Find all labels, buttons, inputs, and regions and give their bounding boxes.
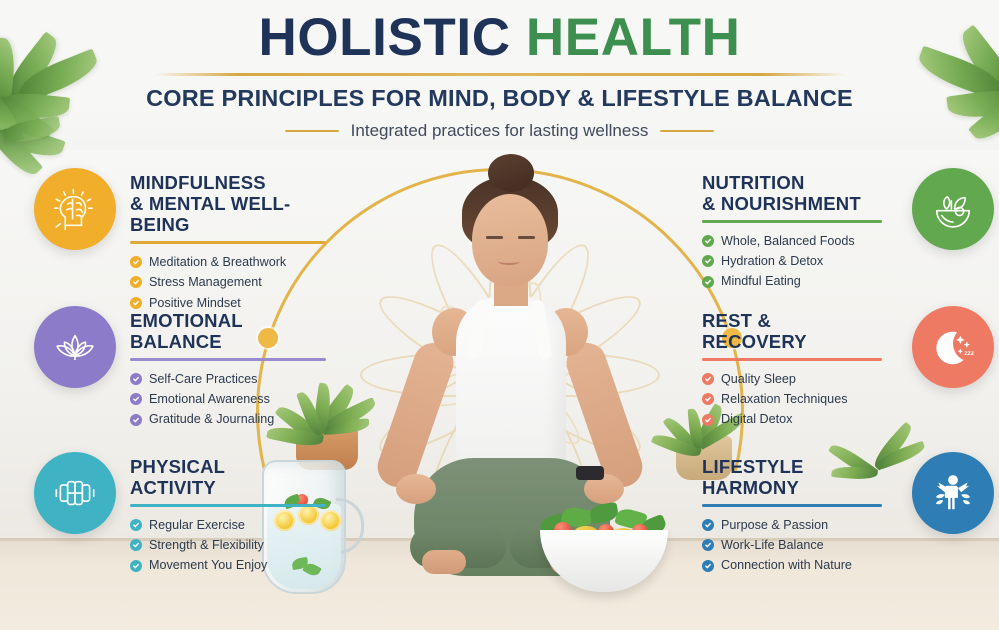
check-icon xyxy=(130,539,142,551)
check-icon xyxy=(130,414,142,426)
list-item: Relaxation Techniques xyxy=(702,389,898,409)
title-divider xyxy=(154,73,846,76)
mindfulness-accent xyxy=(130,241,326,244)
lifestyle-harmony-bullets: Purpose & Passion Work-Life Balance Conn… xyxy=(702,515,898,576)
physical-activity-title: PHYSICAL ACTIVITY xyxy=(130,456,348,498)
list-item: Gratitude & Journaling xyxy=(130,409,348,429)
physical-activity-accent xyxy=(130,504,326,507)
tagline-rule-left xyxy=(285,130,339,133)
list-item: Purpose & Passion xyxy=(702,515,898,535)
check-icon xyxy=(702,276,714,288)
list-item: Meditation & Breathwork xyxy=(130,252,348,272)
check-icon xyxy=(702,255,714,267)
emotional-balance-text: EMOTIONAL BALANCE Self-Care Practices Em… xyxy=(130,306,348,430)
principle-card-lifestyle-harmony[interactable]: LIFESTYLE HARMONY Purpose & Passion Work… xyxy=(702,452,994,576)
check-icon xyxy=(130,256,142,268)
list-item: Whole, Balanced Foods xyxy=(702,231,898,251)
emotional-balance-bullets: Self-Care Practices Emotional Awareness … xyxy=(130,369,348,430)
lifestyle-harmony-accent xyxy=(702,504,882,507)
principle-card-rest-recovery[interactable]: zzz REST & RECOVERY Quality Sleep Relaxa… xyxy=(702,306,994,430)
check-icon xyxy=(702,519,714,531)
rest-recovery-accent xyxy=(702,358,882,361)
brain-head-icon xyxy=(34,168,116,250)
tagline-rule-right xyxy=(660,130,714,133)
check-icon xyxy=(702,414,714,426)
emotional-balance-title: EMOTIONAL BALANCE xyxy=(130,310,348,352)
list-item: Work-Life Balance xyxy=(702,535,898,555)
emotional-balance-accent xyxy=(130,358,326,361)
moon-stars-icon: zzz xyxy=(912,306,994,388)
principle-card-physical-activity[interactable]: PHYSICAL ACTIVITY Regular Exercise Stren… xyxy=(34,452,348,576)
check-icon xyxy=(702,393,714,405)
leaf-decoration-top-right xyxy=(845,0,999,152)
list-item: Hydration & Detox xyxy=(702,251,898,271)
check-icon xyxy=(130,519,142,531)
check-icon xyxy=(130,373,142,385)
infographic-poster: HOLISTIC HEALTH CORE PRINCIPLES FOR MIND… xyxy=(0,0,999,630)
principle-card-emotional-balance[interactable]: EMOTIONAL BALANCE Self-Care Practices Em… xyxy=(34,306,348,430)
svg-text:zzz: zzz xyxy=(964,350,975,357)
principle-card-nutrition[interactable]: NUTRITION & NOURISHMENT Whole, Balanced … xyxy=(702,168,994,292)
check-icon xyxy=(702,235,714,247)
mindfulness-text: MINDFULNESS & MENTAL WELL-BEING Meditati… xyxy=(130,168,348,313)
physical-activity-bullets: Regular Exercise Strength & Flexibility … xyxy=(130,515,348,576)
mindfulness-title: MINDFULNESS & MENTAL WELL-BEING xyxy=(130,172,348,235)
principle-card-mindfulness[interactable]: MINDFULNESS & MENTAL WELL-BEING Meditati… xyxy=(34,168,348,313)
lotus-icon xyxy=(34,306,116,388)
list-item: Strength & Flexibility xyxy=(130,535,348,555)
rest-recovery-text: REST & RECOVERY Quality Sleep Relaxation… xyxy=(702,306,898,430)
lifestyle-harmony-title: LIFESTYLE HARMONY xyxy=(702,456,898,498)
nutrition-title: NUTRITION & NOURISHMENT xyxy=(702,172,898,214)
salad-bowl-icon xyxy=(912,168,994,250)
list-item: Regular Exercise xyxy=(130,515,348,535)
list-item: Digital Detox xyxy=(702,409,898,429)
title-health: HEALTH xyxy=(526,8,741,67)
mindfulness-bullets: Meditation & Breathwork Stress Managemen… xyxy=(130,252,348,313)
rest-recovery-title: REST & RECOVERY xyxy=(702,310,898,352)
list-item: Emotional Awareness xyxy=(130,389,348,409)
list-item: Movement You Enjoy xyxy=(130,555,348,575)
check-icon xyxy=(702,560,714,572)
list-item: Stress Management xyxy=(130,272,348,292)
list-item: Self-Care Practices xyxy=(130,369,348,389)
person-leaves-icon xyxy=(912,452,994,534)
nutrition-accent xyxy=(702,220,882,223)
lifestyle-harmony-text: LIFESTYLE HARMONY Purpose & Passion Work… xyxy=(702,452,898,576)
title-holistic: HOLISTIC xyxy=(258,8,525,67)
nutrition-text: NUTRITION & NOURISHMENT Whole, Balanced … xyxy=(702,168,898,292)
check-icon xyxy=(130,560,142,572)
leaf-decoration-bottom-left xyxy=(0,60,110,180)
check-icon xyxy=(702,373,714,385)
list-item: Quality Sleep xyxy=(702,369,898,389)
check-icon xyxy=(130,393,142,405)
tagline: Integrated practices for lasting wellnes… xyxy=(351,121,649,141)
check-icon xyxy=(130,276,142,288)
list-item: Connection with Nature xyxy=(702,555,898,575)
list-item: Mindful Eating xyxy=(702,271,898,291)
dumbbell-icon xyxy=(34,452,116,534)
rest-recovery-bullets: Quality Sleep Relaxation Techniques Digi… xyxy=(702,369,898,430)
physical-activity-text: PHYSICAL ACTIVITY Regular Exercise Stren… xyxy=(130,452,348,576)
nutrition-bullets: Whole, Balanced Foods Hydration & Detox … xyxy=(702,231,898,292)
check-icon xyxy=(702,539,714,551)
